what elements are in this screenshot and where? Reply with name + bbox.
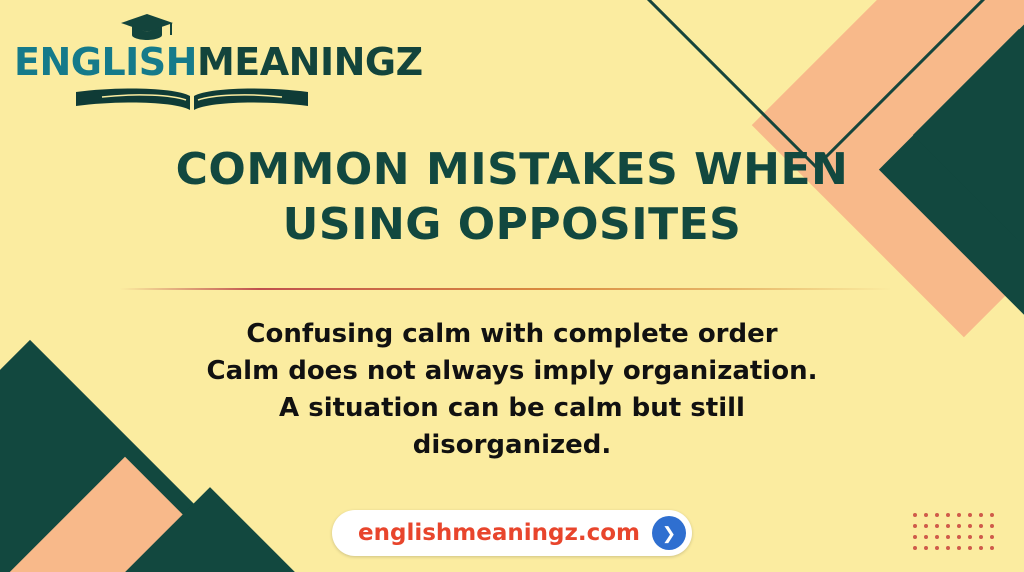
body-line: Calm does not always imply organization. [112,353,912,390]
body-line: A situation can be calm but still [112,390,912,427]
website-url-pill[interactable]: englishmeaningz.com ❯ [332,510,692,556]
logo-word-meaningz: MEANINGZ [197,40,423,84]
body-line: disorganized. [112,427,912,464]
page-title: COMMON MISTAKES WHEN USING OPPOSITES [112,142,912,252]
logo-word-english: ENGLISH [14,40,197,84]
dot-grid-decoration [910,510,998,554]
logo-wordmark: ENGLISHMEANINGZ [14,40,423,84]
graduation-cap-icon [120,14,174,40]
site-logo[interactable]: ENGLISHMEANINGZ [14,14,364,112]
poster-canvas: ENGLISHMEANINGZ COMMON MISTAKES WHEN USI… [0,0,1024,572]
body-line: Confusing calm with complete order [112,316,912,353]
body-text: Confusing calm with complete order Calm … [112,316,912,464]
chevron-right-circle-icon[interactable]: ❯ [652,516,686,550]
website-url-text: englishmeaningz.com [358,520,640,546]
title-divider [120,288,892,290]
open-book-icon [72,86,312,112]
